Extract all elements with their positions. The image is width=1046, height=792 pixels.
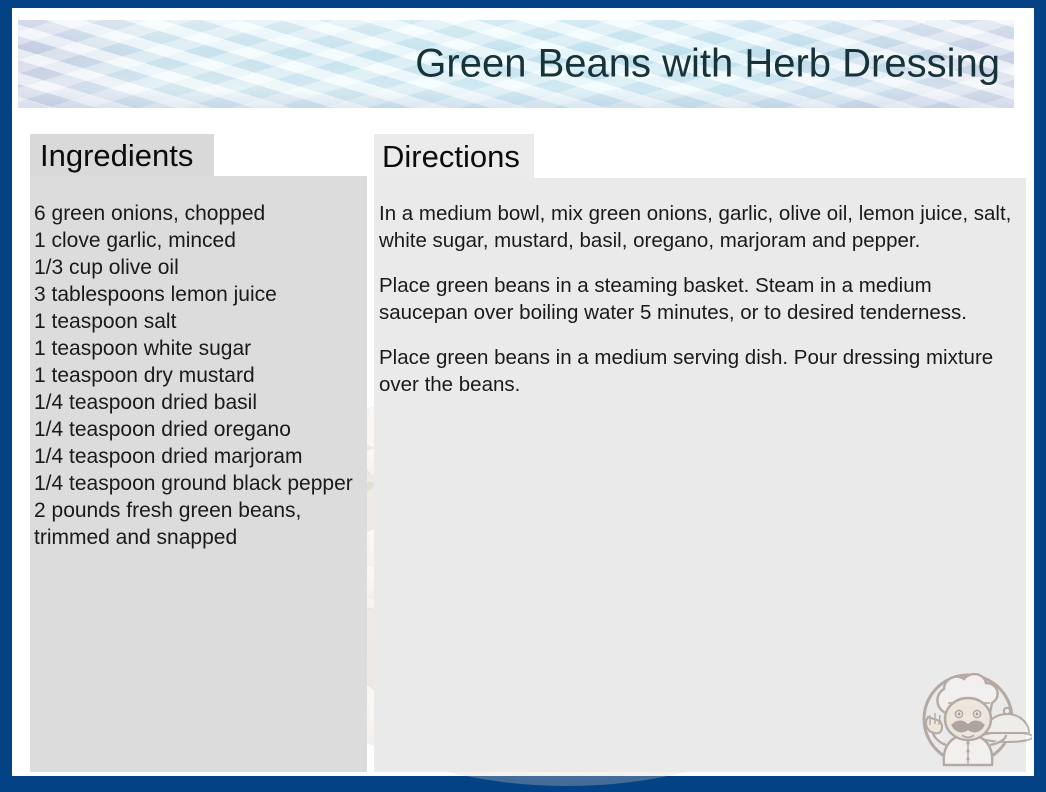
ingredient-item: 6 green onions, chopped (34, 200, 354, 227)
page-title: Green Beans with Herb Dressing (415, 42, 1000, 87)
ingredient-item: 1/3 cup olive oil (34, 254, 354, 281)
ingredient-item: 1 clove garlic, minced (34, 227, 354, 254)
ingredient-list: 6 green onions, chopped1 clove garlic, m… (34, 200, 354, 551)
directions-tab: Directions (374, 134, 534, 178)
ingredients-heading: Ingredients (40, 138, 193, 174)
ingredient-item: 3 tablespoons lemon juice (34, 281, 354, 308)
ingredient-item: 1 teaspoon white sugar (34, 335, 354, 362)
ingredient-item: 1/4 teaspoon dried marjoram (34, 443, 354, 470)
ingredient-item: 1/4 teaspoon dried basil (34, 389, 354, 416)
chef-mascot-logo (910, 653, 1032, 775)
directions-text: In a medium bowl, mix green onions, garl… (379, 200, 1019, 398)
ingredient-item: 2 pounds fresh green beans, trimmed and … (34, 497, 354, 551)
title-banner: Green Beans with Herb Dressing (18, 20, 1014, 108)
directions-heading: Directions (382, 139, 520, 175)
ingredient-item: 1/4 teaspoon ground black pepper (34, 470, 354, 497)
chef-face-icon (945, 698, 991, 740)
direction-step: Place green beans in a steaming basket. … (379, 272, 1019, 326)
ingredients-tab: Ingredients (30, 134, 214, 176)
direction-step: In a medium bowl, mix green onions, garl… (379, 200, 1019, 254)
ingredient-item: 1/4 teaspoon dried oregano (34, 416, 354, 443)
recipe-page: Green Beans with Herb Dressing Ingredien… (12, 8, 1034, 776)
ingredient-item: 1 teaspoon dry mustard (34, 362, 354, 389)
recipe-card-frame: Green Beans with Herb Dressing Ingredien… (0, 0, 1046, 792)
direction-step: Place green beans in a medium serving di… (379, 344, 1019, 398)
ingredient-item: 1 teaspoon salt (34, 308, 354, 335)
